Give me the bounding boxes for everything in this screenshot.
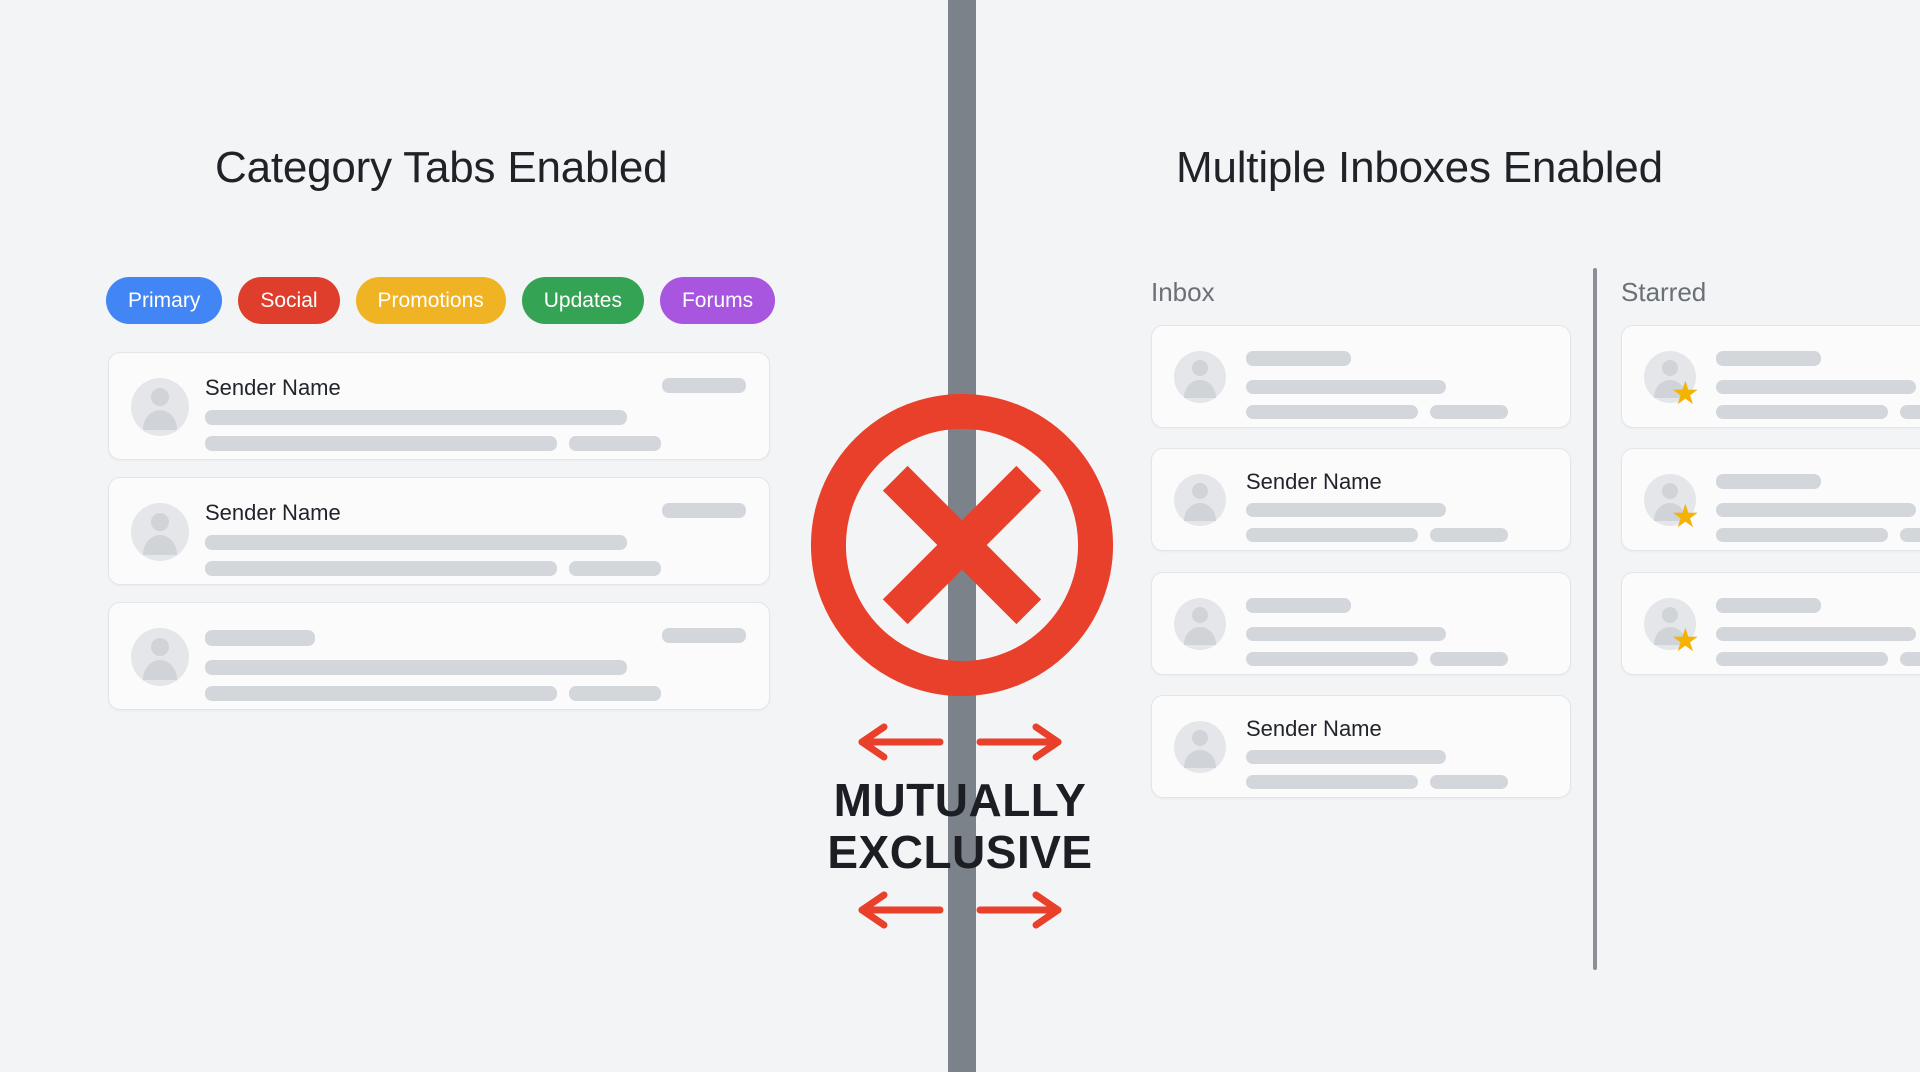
subject-line-bar (205, 410, 627, 425)
sender-name-placeholder-bar (1246, 598, 1351, 613)
category-tab-social[interactable]: Social (238, 277, 339, 324)
preview-line-bar (1716, 528, 1888, 542)
avatar (1174, 721, 1226, 773)
category-tab-forums[interactable]: Forums (660, 277, 775, 324)
preview-tail-bar (1900, 528, 1920, 542)
avatar-head-shape (1192, 607, 1208, 623)
column-divider (1593, 268, 1597, 970)
sender-name-placeholder-bar (1716, 598, 1821, 613)
column-heading-inbox: Inbox (1151, 277, 1215, 308)
avatar (1174, 598, 1226, 650)
sender-name-placeholder-bar (1246, 351, 1351, 366)
category-tab-label: Social (260, 289, 317, 313)
avatar (1174, 474, 1226, 526)
preview-line-bar (1246, 528, 1418, 542)
category-tab-promotions[interactable]: Promotions (356, 277, 506, 324)
email-card[interactable] (1151, 325, 1571, 428)
sender-name-placeholder-bar (205, 630, 315, 646)
subject-line-bar (1246, 750, 1446, 764)
preview-line-bar (1246, 775, 1418, 789)
sender-name-placeholder-bar (1716, 351, 1821, 366)
avatar (131, 378, 189, 436)
sender-name: Sender Name (205, 500, 341, 526)
subject-line-bar (1246, 627, 1446, 641)
email-card[interactable]: ★ (1621, 448, 1920, 551)
category-tab-updates[interactable]: Updates (522, 277, 644, 324)
avatar-head-shape (151, 513, 169, 531)
avatar-body-shape (1184, 503, 1215, 521)
email-card[interactable]: ★ (1621, 325, 1920, 428)
preview-tail-bar (569, 436, 661, 451)
preview-line-bar (1716, 652, 1888, 666)
subject-line-bar (1716, 380, 1916, 394)
preview-tail-bar (1430, 652, 1508, 666)
avatar-head-shape (1192, 360, 1208, 376)
email-card[interactable] (1151, 572, 1571, 675)
category-tab-label: Forums (682, 289, 753, 313)
avatar-body-shape (1184, 750, 1215, 768)
category-tab-label: Primary (128, 289, 200, 313)
left-panel-title: Category Tabs Enabled (215, 143, 667, 193)
email-card[interactable]: Sender Name (108, 477, 770, 585)
subject-line-bar (1246, 380, 1446, 394)
timestamp-chip-bar (662, 503, 746, 518)
avatar-body-shape (1184, 380, 1215, 398)
avatar: ★ (1644, 598, 1696, 650)
diagram-canvas: Category Tabs Enabled PrimarySocialPromo… (0, 0, 1920, 1072)
avatar (1174, 351, 1226, 403)
subject-line-bar (1246, 503, 1446, 517)
preview-tail-bar (569, 561, 661, 576)
avatar-body-shape (143, 660, 178, 680)
timestamp-chip-bar (662, 378, 746, 393)
subject-line-bar (205, 535, 627, 550)
preview-line-bar (1246, 652, 1418, 666)
preview-line-bar (1246, 405, 1418, 419)
preview-tail-bar (1900, 652, 1920, 666)
email-card[interactable]: Sender Name (1151, 448, 1571, 551)
preview-tail-bar (1430, 775, 1508, 789)
preview-tail-bar (1430, 405, 1508, 419)
category-tab-row: PrimarySocialPromotionsUpdatesForums (106, 277, 775, 324)
email-card[interactable] (108, 602, 770, 710)
mutually-exclusive-line-1: MUTUALLY (0, 776, 1920, 825)
preview-line-bar (1716, 405, 1888, 419)
preview-tail-bar (1430, 528, 1508, 542)
preview-tail-bar (1900, 405, 1920, 419)
column-heading-starred: Starred (1621, 277, 1706, 308)
email-card[interactable]: Sender Name (108, 352, 770, 460)
right-panel-title: Multiple Inboxes Enabled (1176, 143, 1663, 193)
preview-line-bar (205, 561, 557, 576)
sender-name: Sender Name (205, 375, 341, 401)
subject-line-bar (1716, 627, 1916, 641)
star-icon: ★ (1671, 500, 1700, 532)
preview-tail-bar (569, 686, 661, 701)
subject-line-bar (1716, 503, 1916, 517)
star-icon: ★ (1671, 377, 1700, 409)
avatar: ★ (1644, 474, 1696, 526)
avatar-head-shape (1192, 483, 1208, 499)
avatar (131, 628, 189, 686)
preview-line-bar (205, 436, 557, 451)
arrow-row-top (0, 722, 1920, 762)
avatar-body-shape (143, 535, 178, 555)
star-icon: ★ (1671, 624, 1700, 656)
prohibition-x-icon (803, 386, 1121, 704)
avatar-head-shape (151, 388, 169, 406)
arrow-row-bottom (0, 890, 1920, 930)
sender-name: Sender Name (1246, 469, 1382, 495)
subject-line-bar (205, 660, 627, 675)
avatar-head-shape (151, 638, 169, 656)
sender-name: Sender Name (1246, 716, 1382, 742)
email-card[interactable]: Sender Name (1151, 695, 1571, 798)
category-tab-primary[interactable]: Primary (106, 277, 222, 324)
avatar-body-shape (1184, 627, 1215, 645)
mutually-exclusive-line-2: EXCLUSIVE (0, 828, 1920, 877)
avatar: ★ (1644, 351, 1696, 403)
preview-line-bar (205, 686, 557, 701)
email-card[interactable]: ★ (1621, 572, 1920, 675)
timestamp-chip-bar (662, 628, 746, 643)
category-tab-label: Updates (544, 289, 622, 313)
avatar-head-shape (1192, 730, 1208, 746)
avatar-body-shape (143, 410, 178, 430)
sender-name-placeholder-bar (1716, 474, 1821, 489)
category-tab-label: Promotions (378, 289, 484, 313)
avatar (131, 503, 189, 561)
